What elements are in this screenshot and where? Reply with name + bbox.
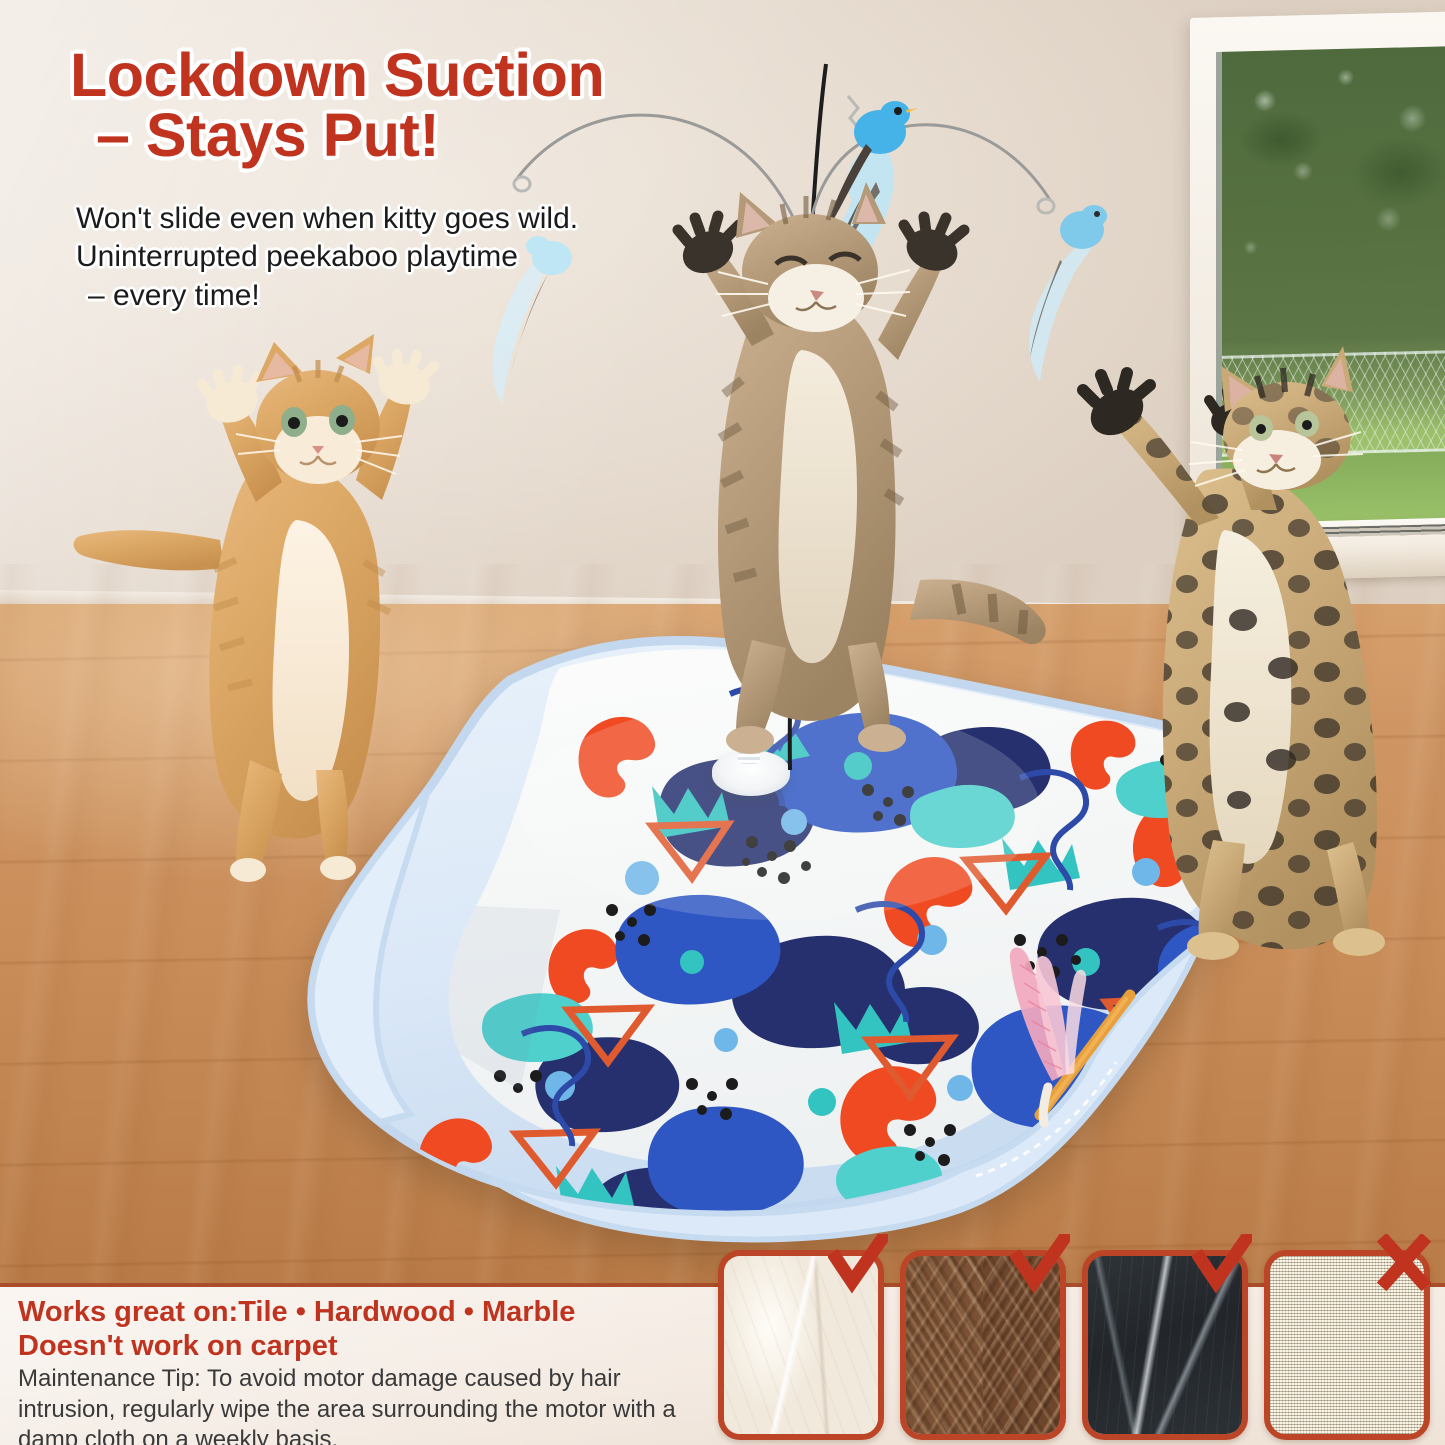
subheadline-line-3: – every time!: [76, 277, 716, 315]
compatibility-line-2: Doesn't work on carpet: [18, 1330, 718, 1364]
pink-feather-wand: [940, 935, 1190, 1150]
check-icon: [828, 1234, 888, 1294]
cross-icon: [1374, 1234, 1434, 1294]
swatch-marble: [1082, 1250, 1248, 1440]
ginger-kitten-left: [60, 330, 500, 890]
kitten-tail: [74, 530, 224, 570]
subheadline-line-2: Uninterrupted peekaboo playtime: [76, 238, 716, 276]
bengal-cat-right: [975, 320, 1445, 960]
surface-swatch-row: [718, 1250, 1438, 1440]
compatibility-line-1: Works great on:Tile • Hardwood • Marble: [18, 1296, 718, 1330]
chevron-left-grain: [906, 1256, 983, 1434]
subheadline-line-1: Won't slide even when kitty goes wild.: [76, 200, 716, 238]
check-icon: [1192, 1234, 1252, 1294]
swatch-carpet: [1264, 1250, 1430, 1440]
maintenance-tip: Maintenance Tip: To avoid motor damage c…: [18, 1364, 698, 1445]
swatch-tile: [718, 1250, 884, 1440]
tabby-head: [716, 182, 910, 332]
product-infographic: Lockdown Suction – Stays Put! Won't slid…: [0, 0, 1445, 1445]
headline-line-2: – Stays Put!: [70, 106, 770, 166]
compatibility-headline: Works great on:Tile • Hardwood • Marble …: [18, 1296, 718, 1363]
feather-plume: [1010, 947, 1086, 1123]
swatch-hardwood: [900, 1250, 1066, 1440]
check-icon: [1010, 1234, 1070, 1294]
headline: Lockdown Suction – Stays Put!: [70, 46, 770, 166]
subheadline: Won't slide even when kitty goes wild. U…: [76, 200, 716, 315]
headline-line-1: Lockdown Suction: [70, 41, 604, 109]
